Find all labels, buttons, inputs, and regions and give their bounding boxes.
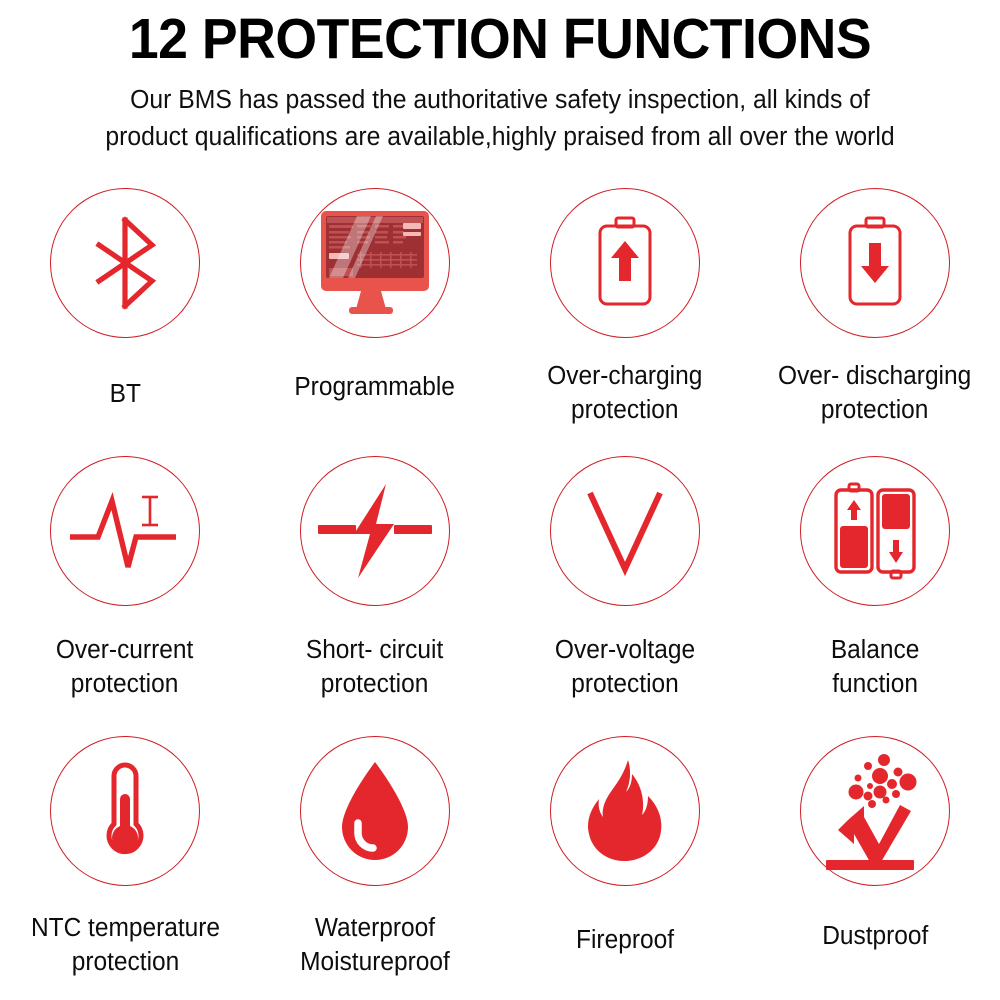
feature-label: Dustproof: [822, 920, 928, 954]
feature-label-line-1: Programmable: [295, 371, 456, 405]
feature-label-line-1: Waterproof: [300, 912, 450, 946]
feature-item-fireproof: Fireproof: [500, 736, 750, 1000]
feature-label: Over-voltage protection: [555, 634, 695, 701]
icon-circle: [50, 188, 200, 338]
feature-item-short-circuit: Short- circuit protection: [250, 456, 500, 736]
icon-circle: [800, 188, 950, 338]
two-batteries-balance-icon: [827, 478, 923, 584]
feature-label: NTC temperature protection: [30, 912, 219, 979]
thermometer-icon: [86, 756, 164, 866]
feature-label-line-2: protection: [56, 668, 193, 702]
monitor-programmable-icon: [313, 205, 437, 321]
flame-icon: [578, 756, 672, 866]
water-droplet-icon: [332, 757, 418, 865]
feature-label: BT: [109, 378, 140, 412]
features-row-1: BT: [0, 188, 1000, 456]
feature-label-line-1: Dustproof: [822, 920, 928, 954]
current-waveform-icon: [66, 485, 184, 577]
feature-label: Over-current protection: [56, 634, 193, 701]
protection-functions-infographic: 12 PROTECTION FUNCTIONS Our BMS has pass…: [0, 0, 1000, 1000]
icon-circle: [550, 188, 700, 338]
feature-label: Over-charging protection: [547, 360, 702, 427]
feature-item-programmable: Programmable: [250, 188, 500, 456]
feature-item-over-voltage: Over-voltage protection: [500, 456, 750, 736]
lightning-bolt-icon: [314, 478, 436, 584]
icon-circle: [800, 456, 950, 606]
page-subtitle: Our BMS has passed the authoritative saf…: [39, 82, 961, 156]
feature-item-bt: BT: [0, 188, 250, 456]
feature-label-line-2: protection: [555, 668, 695, 702]
feature-label-line-2: protection: [30, 946, 219, 980]
feature-label: Programmable: [295, 371, 456, 405]
icon-circle: [550, 456, 700, 606]
feature-label-line-2: protection: [306, 668, 443, 702]
subtitle-line-2: product qualifications are available,hig…: [39, 119, 961, 156]
feature-label-line-1: Over- discharging: [778, 360, 971, 394]
feature-item-balance: Balance function: [750, 456, 1000, 736]
feature-item-dustproof: Dustproof: [750, 736, 1000, 1000]
feature-label-line-1: Over-current: [56, 634, 193, 668]
header: 12 PROTECTION FUNCTIONS Our BMS has pass…: [0, 0, 1000, 156]
feature-label-line-2: function: [831, 668, 919, 702]
bluetooth-icon: [69, 207, 181, 319]
feature-label-line-1: Short- circuit: [306, 634, 443, 668]
feature-label-line-2: protection: [547, 394, 702, 428]
icon-circle: [300, 736, 450, 886]
icon-circle: [300, 456, 450, 606]
feature-label-line-1: NTC temperature: [30, 912, 219, 946]
battery-up-arrow-icon: [579, 211, 671, 315]
feature-label: Waterproof Moistureproof: [300, 912, 450, 979]
feature-item-over-current: Over-current protection: [0, 456, 250, 736]
features-grid: BT: [0, 188, 1000, 1000]
feature-item-over-discharging: Over- discharging protection: [750, 188, 1000, 456]
dust-particles-icon: [812, 748, 938, 874]
icon-circle: [50, 736, 200, 886]
icon-circle: [300, 188, 450, 338]
feature-label-line-1: BT: [109, 378, 140, 412]
page-title: 12 PROTECTION FUNCTIONS: [39, 10, 960, 68]
feature-item-waterproof: Waterproof Moistureproof: [250, 736, 500, 1000]
features-row-3: NTC temperature protection Waterproof Mo…: [0, 736, 1000, 1000]
feature-label-line-1: Over-voltage: [555, 634, 695, 668]
feature-label: Fireproof: [576, 924, 674, 958]
features-row-2: Over-current protection Short- circuit p…: [0, 456, 1000, 736]
subtitle-line-1: Our BMS has passed the authoritative saf…: [39, 82, 961, 119]
feature-item-over-charging: Over-charging protection: [500, 188, 750, 456]
icon-circle: [800, 736, 950, 886]
battery-down-arrow-icon: [829, 211, 921, 315]
feature-label: Over- discharging protection: [778, 360, 971, 427]
feature-label-line-1: Fireproof: [576, 924, 674, 958]
icon-circle: [50, 456, 200, 606]
feature-label-line-1: Over-charging: [547, 360, 702, 394]
feature-label-line-2: Moistureproof: [300, 946, 450, 980]
icon-circle: [550, 736, 700, 886]
feature-label: Balance function: [831, 634, 919, 701]
feature-label-line-1: Balance: [831, 634, 919, 668]
feature-label: Short- circuit protection: [306, 634, 443, 701]
feature-label-line-2: protection: [778, 394, 971, 428]
voltage-v-icon: [582, 485, 668, 577]
feature-item-ntc-temperature: NTC temperature protection: [0, 736, 250, 1000]
